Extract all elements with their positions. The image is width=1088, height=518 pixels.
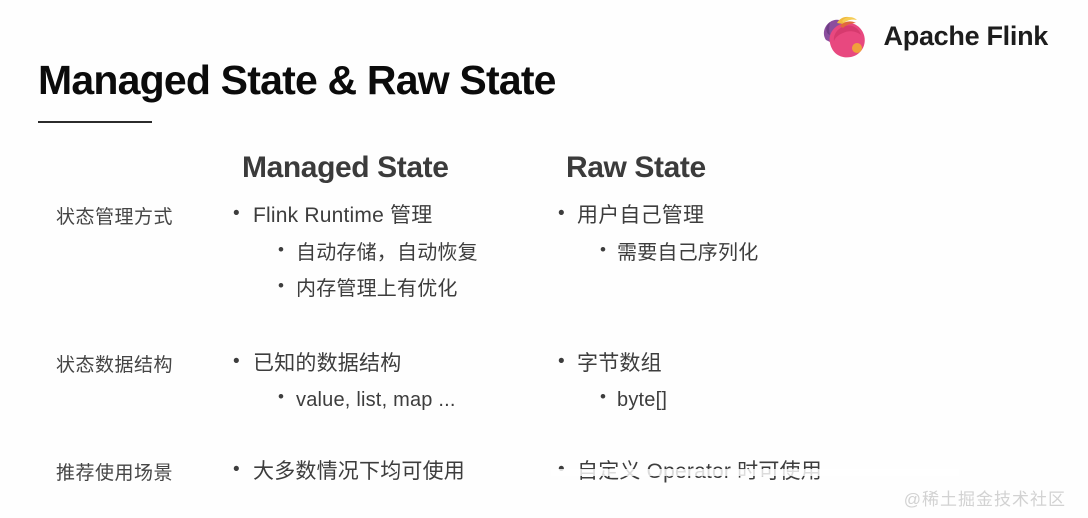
bullet-main: 自定义 Operator 时可使用 — [555, 458, 955, 486]
brand-name: Apache Flink — [884, 23, 1048, 50]
bullet-list: Flink Runtime 管理 自动存储，自动恢复 内存管理上有优化 — [230, 202, 555, 303]
cell-managed-row3: 大多数情况下均可使用 — [230, 458, 555, 489]
bullet-main: 字节数组 — [555, 350, 955, 378]
table-row: 状态管理方式 Flink Runtime 管理 自动存储，自动恢复 内存管理上有… — [0, 202, 1088, 303]
cell-raw-row2: 字节数组 byte[] — [555, 350, 955, 414]
cell-managed-row2: 已知的数据结构 value, list, map ... — [230, 350, 555, 414]
row-label-cell: 状态管理方式 — [0, 202, 230, 231]
bullet-list: 字节数组 byte[] — [555, 350, 955, 414]
row-label-cell: 状态数据结构 — [0, 350, 230, 379]
table-header-row: Managed State Raw State — [0, 150, 1088, 186]
cell-raw-row3: 自定义 Operator 时可使用 — [555, 458, 955, 489]
flink-squirrel-logo-icon — [816, 10, 872, 62]
header-cell-managed: Managed State — [230, 150, 555, 186]
table-row: 状态数据结构 已知的数据结构 value, list, map ... 字节数组… — [0, 350, 1088, 414]
bullet-list: 自定义 Operator 时可使用 — [555, 458, 955, 486]
bullet-main: 用户自己管理 — [555, 202, 955, 230]
table-row: 推荐使用场景 大多数情况下均可使用 自定义 Operator 时可使用 — [0, 458, 1088, 489]
column-header-raw-state: Raw State — [555, 150, 955, 186]
column-header-managed-state: Managed State — [230, 150, 555, 186]
bullet-main: Flink Runtime 管理 — [230, 202, 555, 230]
cell-managed-row1: Flink Runtime 管理 自动存储，自动恢复 内存管理上有优化 — [230, 202, 555, 303]
page-title: Managed State & Raw State — [38, 57, 556, 104]
header-cell-raw: Raw State — [555, 150, 955, 186]
row-label-state-management: 状态管理方式 — [56, 202, 230, 231]
row-label-recommended-scenario: 推荐使用场景 — [56, 458, 230, 487]
row-label-cell: 推荐使用场景 — [0, 458, 230, 487]
bullet-sub: 需要自己序列化 — [555, 240, 955, 266]
slide-canvas: Apache Flink Managed State & Raw State M… — [0, 0, 1088, 518]
bullet-list: 用户自己管理 需要自己序列化 — [555, 202, 955, 266]
comparison-table: Managed State Raw State 状态管理方式 Flink Run… — [0, 150, 1088, 488]
bullet-list: 已知的数据结构 value, list, map ... — [230, 350, 555, 414]
bullet-sub: byte[] — [555, 387, 955, 413]
bullet-sub: 自动存储，自动恢复 — [230, 240, 555, 266]
brand-lockup: Apache Flink — [816, 10, 1048, 62]
bullet-main: 已知的数据结构 — [230, 350, 555, 378]
bullet-sub: 内存管理上有优化 — [230, 276, 555, 302]
bullet-sub: value, list, map ... — [230, 387, 555, 413]
cell-raw-row1: 用户自己管理 需要自己序列化 — [555, 202, 955, 266]
watermark: @稀土掘金技术社区 — [904, 485, 1066, 510]
bullet-main: 大多数情况下均可使用 — [230, 458, 555, 486]
row-label-state-data-structure: 状态数据结构 — [56, 350, 230, 379]
title-underline-rule — [38, 121, 152, 123]
bullet-list: 大多数情况下均可使用 — [230, 458, 555, 486]
